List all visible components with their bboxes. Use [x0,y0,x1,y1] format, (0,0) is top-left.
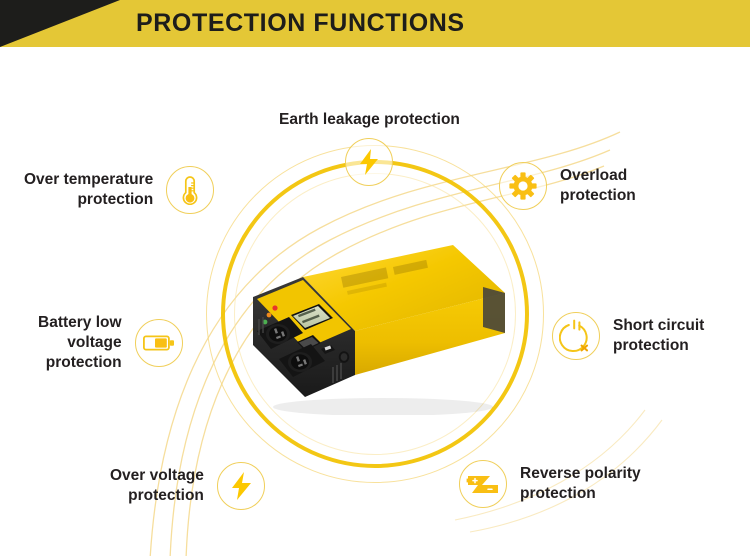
feature-label-battery-low-voltage: Battery low voltage protection [38,313,122,372]
feature-label-over-temperature: Over temperature protection [24,170,153,210]
feature-battery-low-voltage[interactable]: Battery low voltage protection [38,313,183,372]
product-image-power-inverter [243,235,511,415]
feature-label-reverse-polarity: Reverse polarity protection [520,464,641,504]
feature-label-earth-leakage: Earth leakage protection [279,110,460,130]
feature-over-temperature[interactable]: Over temperature protection [24,166,214,214]
feature-overload[interactable]: Overload protection [499,162,636,210]
feature-earth-leakage[interactable]: Earth leakage protection [279,110,460,186]
lightning-bolt-icon [217,462,265,510]
reverse-polarity-icon [459,460,507,508]
feature-over-voltage[interactable]: Over voltage protection [110,462,265,510]
header-corner-wedge [0,0,120,47]
protection-functions-infographic: PROTECTION FUNCTIONS [0,0,750,556]
feature-reverse-polarity[interactable]: Reverse polarity protection [459,460,641,508]
page-title: PROTECTION FUNCTIONS [136,0,465,47]
thermometer-icon [166,166,214,214]
lightning-bolt-icon [345,138,393,186]
gear-icon [499,162,547,210]
feature-label-overload: Overload protection [560,166,636,206]
page-header: PROTECTION FUNCTIONS [0,0,750,47]
feature-short-circuit[interactable]: Short circuit protection [552,312,704,360]
feature-label-short-circuit: Short circuit protection [613,316,704,356]
battery-low-icon [135,319,183,367]
feature-label-over-voltage: Over voltage protection [110,466,204,506]
short-circuit-icon [552,312,600,360]
